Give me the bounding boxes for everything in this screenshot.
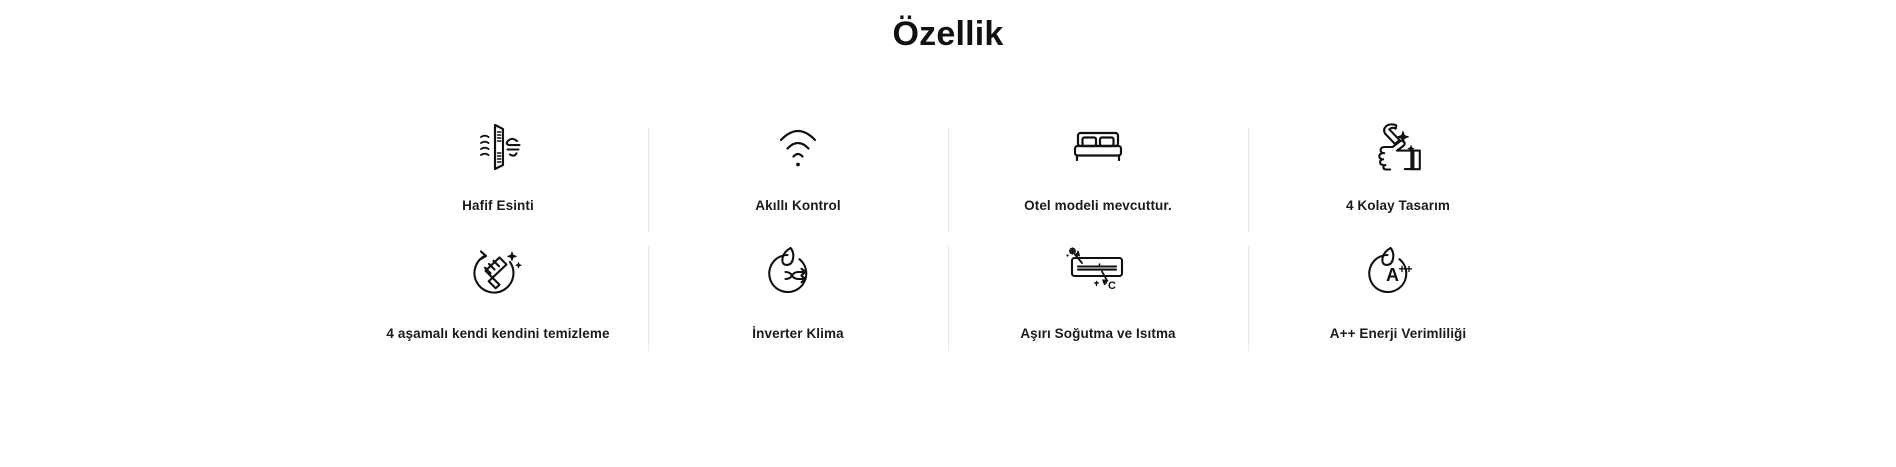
feature-label: Aşırı Soğutma ve Isıtma xyxy=(1020,326,1175,342)
feature-item-kolay-tasarim[interactable]: 4 Kolay Tasarım xyxy=(1248,100,1548,228)
feature-item-inverter-klima[interactable]: İnverter Klima xyxy=(648,228,948,356)
inverter-leaf-arrows-icon xyxy=(768,238,828,300)
hotel-bed-icon xyxy=(1066,114,1130,176)
feature-label: 4 Kolay Tasarım xyxy=(1346,198,1450,214)
energy-leaf-aplusplus-icon: A ++ xyxy=(1368,238,1428,300)
feature-item-enerji-verimliligi[interactable]: A ++ A++ Enerji Verimliliği xyxy=(1248,228,1548,356)
feature-label: Hafif Esinti xyxy=(462,198,534,214)
feature-section-page: Özellik xyxy=(0,0,1896,467)
air-vent-breeze-icon xyxy=(469,114,527,176)
hand-wrench-sparkle-icon xyxy=(1367,114,1429,176)
feature-item-akilli-kontrol[interactable]: Akıllı Kontrol xyxy=(648,100,948,228)
wifi-signal-icon xyxy=(769,114,827,176)
feature-item-otel-modeli[interactable]: Otel modeli mevcuttur. xyxy=(948,100,1248,228)
feature-label: Akıllı Kontrol xyxy=(755,198,840,214)
svg-text:++: ++ xyxy=(1399,262,1413,276)
ac-unit-temperature-icon: C xyxy=(1060,238,1136,300)
feature-row: 4 aşamalı kendi kendini temizleme İnvert… xyxy=(348,228,1548,356)
feature-row: Hafif Esinti Akıllı Kontrol xyxy=(348,100,1548,228)
feature-item-sogutma-isitma[interactable]: C Aşırı Soğutma ve Isıtma xyxy=(948,228,1248,356)
feature-item-kendini-temizleme[interactable]: 4 aşamalı kendi kendini temizleme xyxy=(348,228,648,356)
feature-item-hafif-esinti[interactable]: Hafif Esinti xyxy=(348,100,648,228)
self-cleaning-brush-icon xyxy=(468,238,528,300)
feature-label: İnverter Klima xyxy=(752,326,843,342)
page-title: Özellik xyxy=(0,12,1896,56)
svg-text:A: A xyxy=(1386,265,1399,285)
feature-label: Otel modeli mevcuttur. xyxy=(1024,198,1172,214)
svg-text:C: C xyxy=(1108,280,1116,292)
feature-label: 4 aşamalı kendi kendini temizleme xyxy=(386,326,609,342)
feature-grid: Hafif Esinti Akıllı Kontrol xyxy=(348,100,1548,356)
feature-label: A++ Enerji Verimliliği xyxy=(1330,326,1467,342)
